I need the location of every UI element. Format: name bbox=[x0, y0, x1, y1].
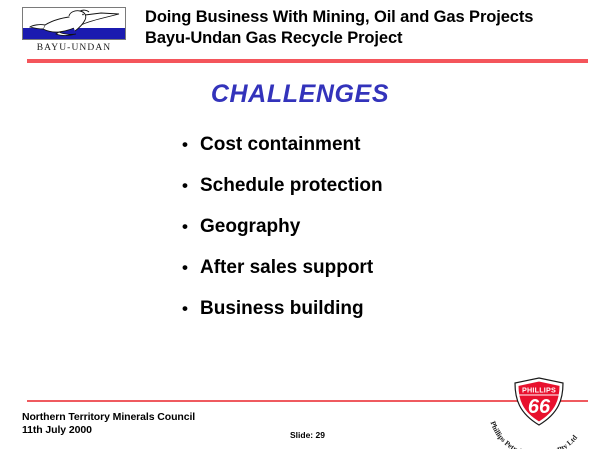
list-item: • Geography bbox=[182, 216, 562, 257]
logo-frame bbox=[22, 7, 126, 40]
list-item-label: After sales support bbox=[200, 257, 373, 279]
phillips-66-shield-icon: PHILLIPS 66 bbox=[513, 377, 565, 427]
header-title-line-1: Doing Business With Mining, Oil and Gas … bbox=[145, 7, 590, 28]
list-item-label: Schedule protection bbox=[200, 175, 383, 197]
list-item: • Business building bbox=[182, 298, 562, 339]
bayu-undan-logo: BAYU-UNDAN bbox=[22, 7, 130, 59]
sixty-six-number: 66 bbox=[528, 396, 551, 418]
logo-caption: BAYU-UNDAN bbox=[22, 43, 126, 53]
bullet-icon: • bbox=[182, 136, 200, 153]
bird-icon bbox=[23, 8, 126, 40]
footer-organisation: Northern Territory Minerals Council bbox=[22, 411, 195, 424]
list-item: • After sales support bbox=[182, 257, 562, 298]
list-item-label: Cost containment bbox=[200, 134, 360, 156]
footer-credits: Northern Territory Minerals Council 11th… bbox=[22, 411, 195, 437]
list-item-label: Geography bbox=[200, 216, 300, 238]
list-item-label: Business building bbox=[200, 298, 364, 320]
header-title: Doing Business With Mining, Oil and Gas … bbox=[145, 7, 590, 49]
phillips-wordmark: PHILLIPS bbox=[522, 386, 556, 395]
bullet-list: • Cost containment • Schedule protection… bbox=[182, 134, 562, 339]
slide-canvas: BAYU-UNDAN Doing Business With Mining, O… bbox=[0, 0, 600, 450]
bullet-icon: • bbox=[182, 218, 200, 235]
bullet-icon: • bbox=[182, 300, 200, 317]
footer-date: 11th July 2000 bbox=[22, 424, 195, 437]
header-divider bbox=[27, 59, 588, 63]
bullet-icon: • bbox=[182, 177, 200, 194]
header-title-line-2: Bayu-Undan Gas Recycle Project bbox=[145, 28, 590, 49]
phillips-66-logo: Phillips Petroleum (91-12) Pty Ltd PHILL… bbox=[483, 377, 595, 449]
slide-number: Slide: 29 bbox=[290, 430, 325, 440]
page-title: CHALLENGES bbox=[0, 80, 600, 109]
list-item: • Cost containment bbox=[182, 134, 562, 175]
list-item: • Schedule protection bbox=[182, 175, 562, 216]
bullet-icon: • bbox=[182, 259, 200, 276]
